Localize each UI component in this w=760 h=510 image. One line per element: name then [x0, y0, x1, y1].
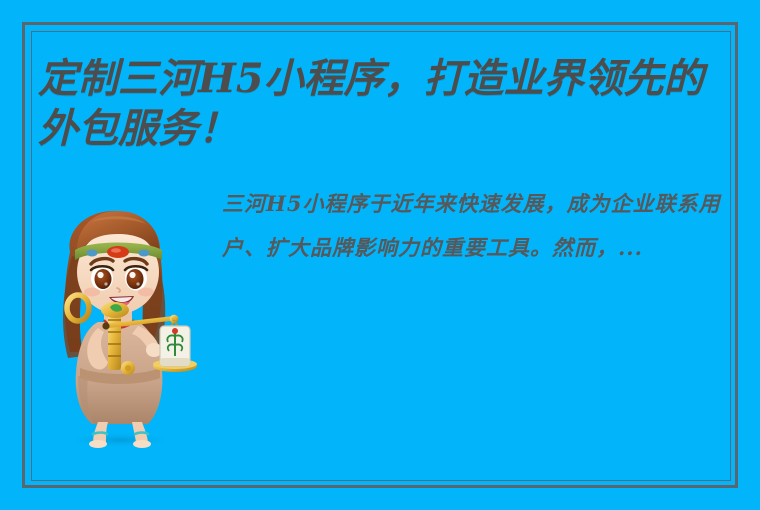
character-illustration [36, 200, 216, 448]
promo-banner: 定制三河H5小程序，打造业界领先的外包服务！ 三河H5小程序于近年来快速发展，成… [0, 0, 760, 510]
body-paragraph: 三河H5小程序于近年来快速发展，成为企业联系用户、扩大品牌影响力的重要工具。然而… [222, 182, 722, 270]
mahjong-tile [160, 326, 190, 366]
headline-title: 定制三河H5小程序，打造业界领先的外包服务！ [38, 54, 738, 154]
